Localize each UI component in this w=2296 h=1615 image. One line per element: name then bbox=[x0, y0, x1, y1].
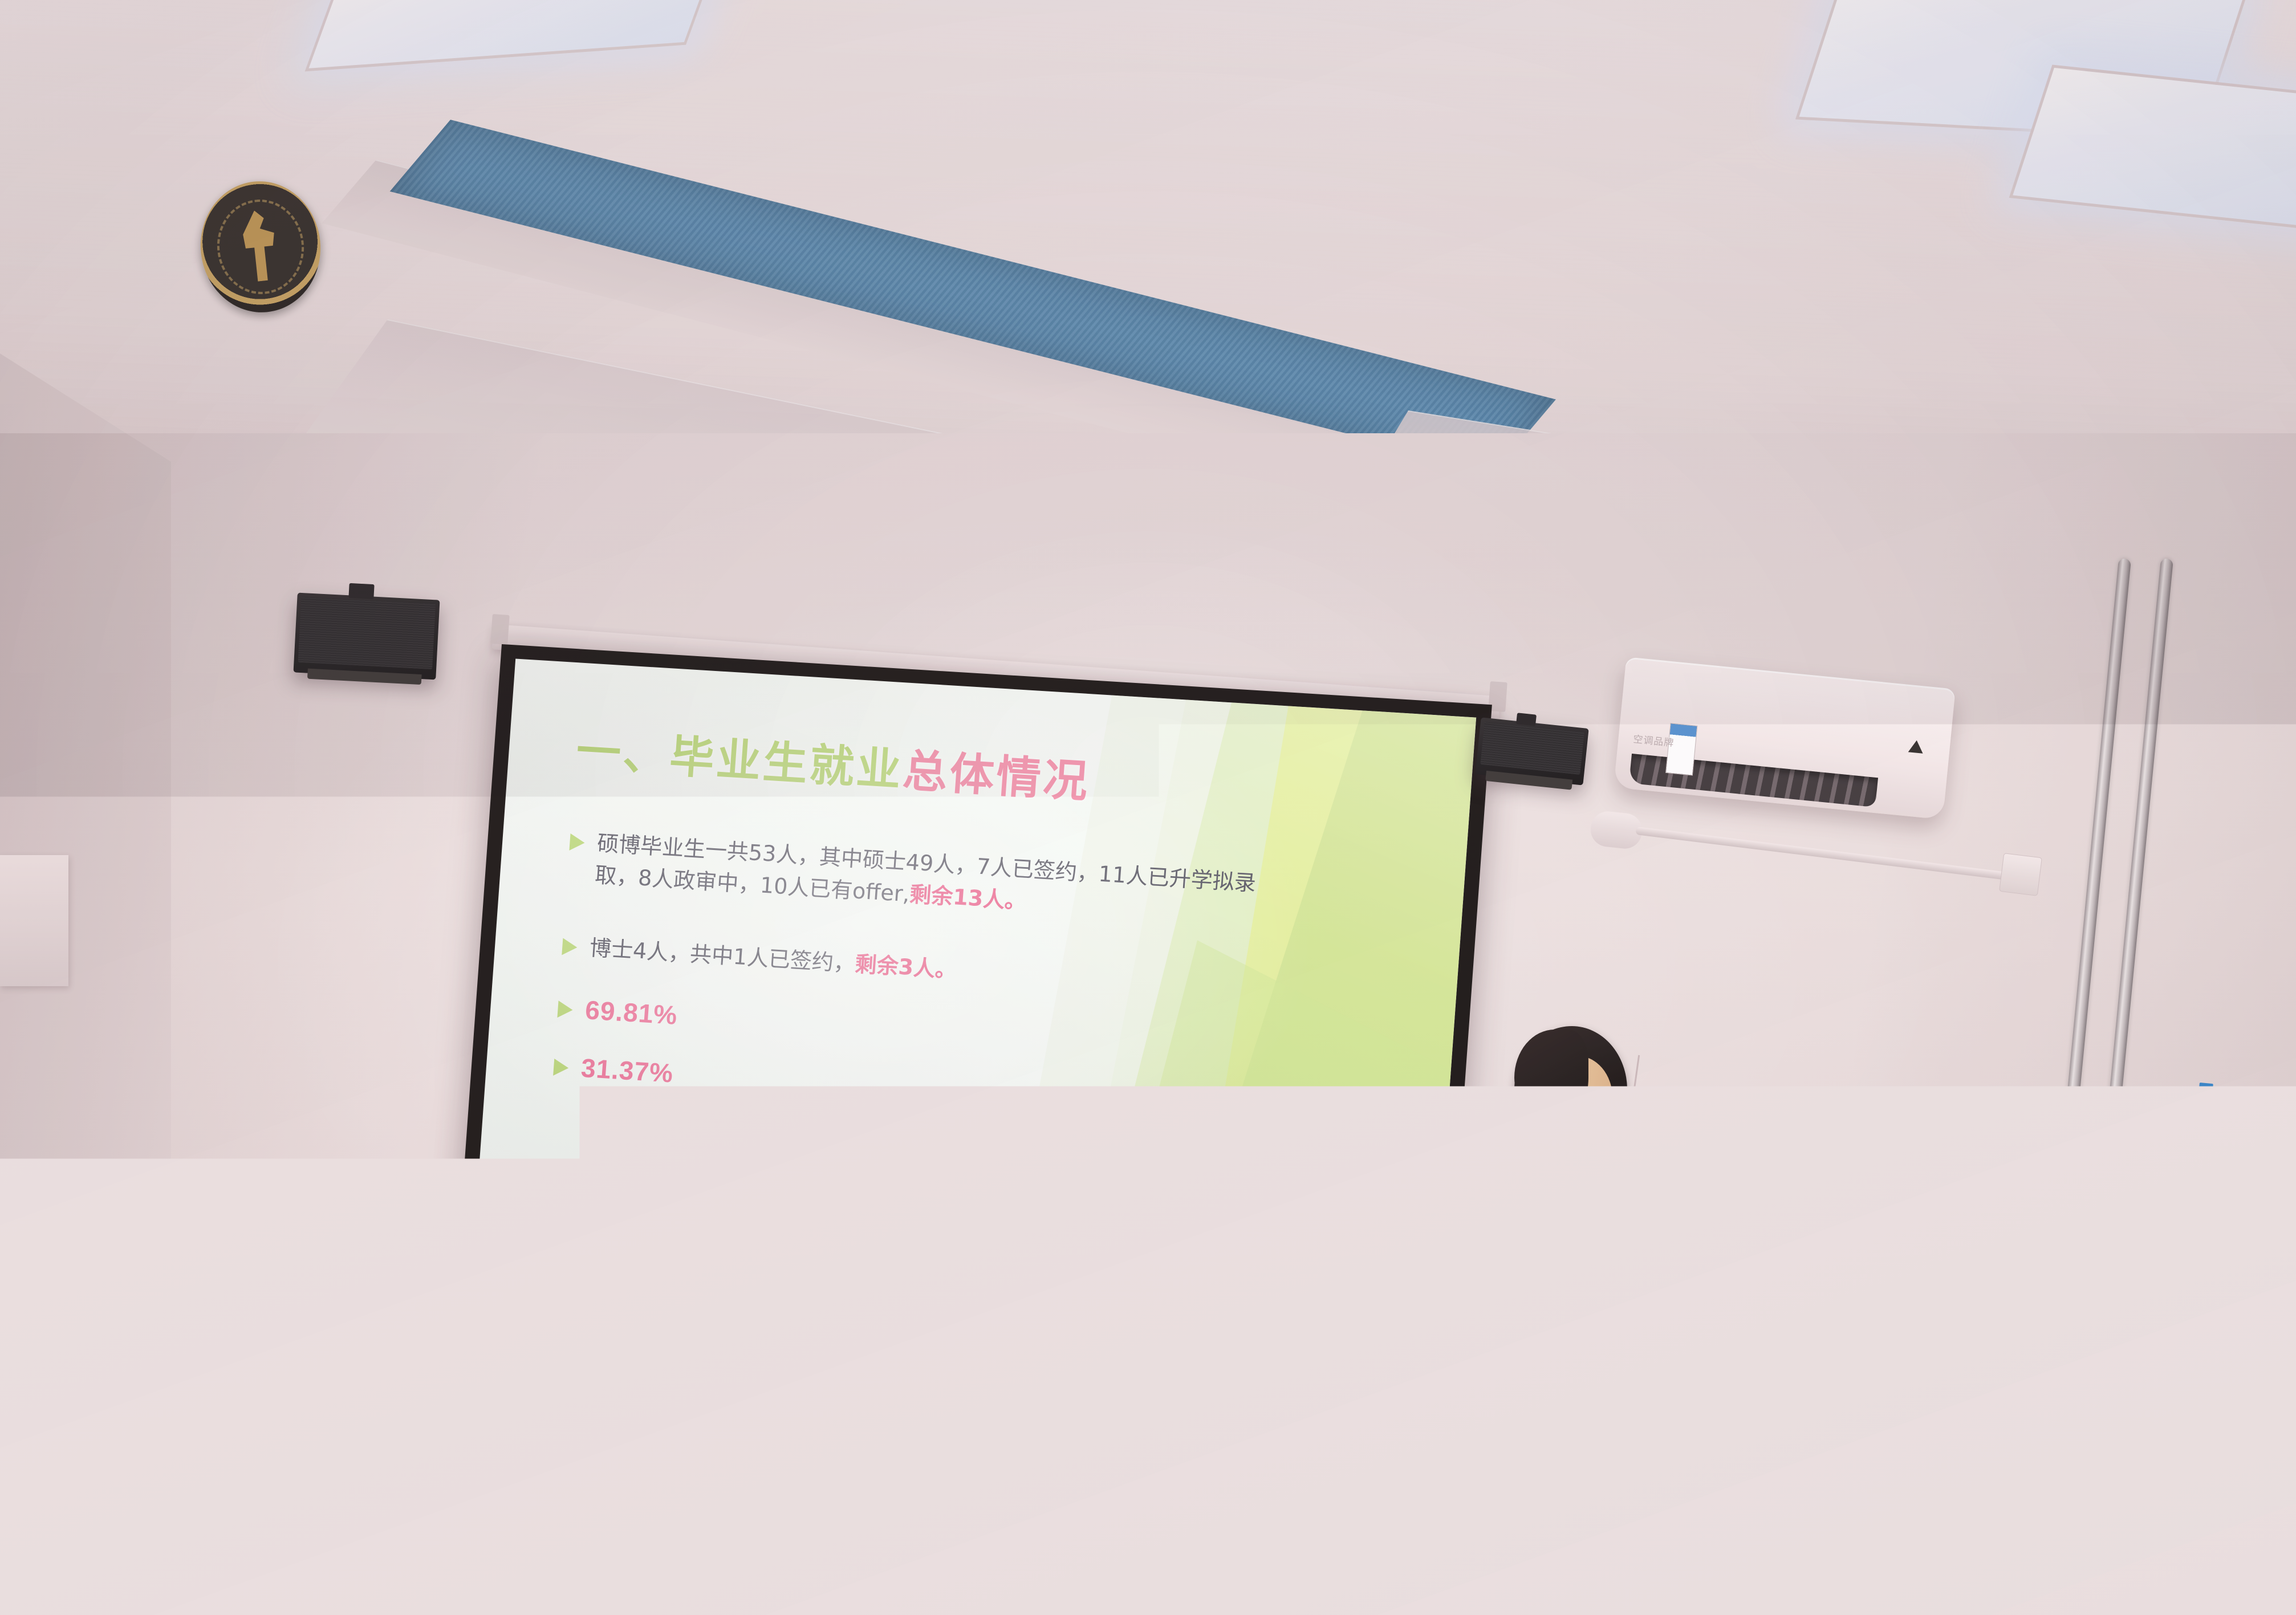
laptop-sticker-white bbox=[1576, 1397, 1623, 1437]
eyeglasses-right-lens bbox=[1575, 1088, 1609, 1110]
speaker-grille bbox=[298, 597, 436, 669]
slide-bullet-text: 博士4人，共中1人已签约，剩余3人。 bbox=[588, 931, 958, 986]
eyeglasses-bridge bbox=[1572, 1095, 1577, 1096]
wall-speaker bbox=[1475, 717, 1588, 785]
pipe-marker-tape bbox=[2197, 1083, 2213, 1107]
ac-energy-label bbox=[1665, 723, 1697, 775]
speaker-mount bbox=[348, 583, 374, 599]
classroom-photo-scene: 一、毕业生就业总体情况 硕博毕业生一共53人，其中硕士49人，7人已签约，11人… bbox=[0, 0, 2296, 1615]
wall-outlet-plate bbox=[1999, 853, 2042, 896]
eyeglasses-left-lens bbox=[1542, 1088, 1576, 1110]
slide-surface: 一、毕业生就业总体情况 硕博毕业生一共53人，其中硕士49人，7人已签约，11人… bbox=[472, 659, 1476, 1326]
triangle-bullet-icon bbox=[557, 1000, 573, 1019]
slide-stat: 31.37% bbox=[552, 1051, 674, 1089]
triangle-bullet-icon bbox=[562, 938, 578, 956]
slide-stat-value: 31.37% bbox=[580, 1052, 674, 1089]
slide-stat: 69.81% bbox=[557, 992, 678, 1031]
bullet-2-main: 博士4人，共中1人已签约， bbox=[589, 935, 856, 976]
triangle-bullet-icon bbox=[569, 833, 585, 852]
presenter-necklace bbox=[1560, 1189, 1590, 1217]
speaker-mount bbox=[1516, 713, 1537, 726]
speaker-grille bbox=[1480, 722, 1584, 775]
slide-title-pink: 总体情况 bbox=[901, 745, 1092, 808]
wall-speaker bbox=[294, 593, 440, 680]
warning-triangle-icon bbox=[1908, 739, 1924, 753]
left-wall-shelf bbox=[0, 855, 68, 986]
slide-title-green: 一、毕业生就业 bbox=[575, 725, 905, 796]
projection-screen[interactable]: 一、毕业生就业总体情况 硕博毕业生一共53人，其中硕士49人，7人已签约，11人… bbox=[456, 644, 1492, 1341]
laptop-sticker-red bbox=[1615, 1384, 1671, 1428]
bullet-2-highlight: 剩余3人。 bbox=[854, 951, 957, 983]
valve-body bbox=[2181, 1170, 2213, 1190]
slide-title: 一、毕业生就业总体情况 bbox=[574, 715, 1092, 810]
ac-brand-text: 空调品牌 bbox=[1633, 731, 1675, 749]
triangle-bullet-icon bbox=[553, 1059, 569, 1077]
screen-bracket bbox=[490, 614, 510, 645]
wooden-podium: 马克思主义学院 bbox=[1676, 1209, 2092, 1528]
bullet-1-highlight: 剩余13人。 bbox=[909, 882, 1027, 914]
table-remote-control[interactable] bbox=[863, 1541, 902, 1571]
slide-stat-value: 69.81% bbox=[584, 994, 679, 1031]
